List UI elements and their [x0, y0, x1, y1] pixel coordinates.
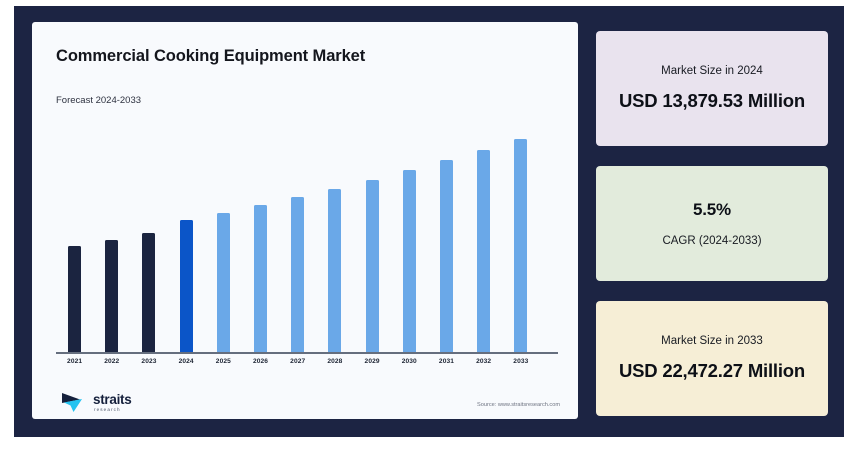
bar-2032 — [477, 150, 490, 352]
bar-slot — [279, 124, 316, 352]
x-axis-label-2028: 2028 — [316, 358, 353, 365]
bar-slot — [354, 124, 391, 352]
chart-subtitle: Forecast 2024-2033 — [56, 95, 141, 106]
infographic-root: Commercial Cooking Equipment Market Fore… — [14, 6, 844, 437]
bar-2027 — [291, 197, 304, 352]
bar-2024 — [180, 220, 193, 352]
bar-slot — [502, 124, 539, 352]
logo-wordmark: straits research — [93, 393, 131, 412]
bar-slot — [428, 124, 465, 352]
bar-slot — [316, 124, 353, 352]
x-axis-label-2024: 2024 — [168, 358, 205, 365]
x-axis-label-2022: 2022 — [93, 358, 130, 365]
x-axis-line — [56, 352, 558, 354]
bar-slot — [56, 124, 93, 352]
x-axis-label-2031: 2031 — [428, 358, 465, 365]
x-axis-label-2032: 2032 — [465, 358, 502, 365]
x-axis-label-2029: 2029 — [354, 358, 391, 365]
bar-slot — [465, 124, 502, 352]
bar-2022 — [105, 240, 118, 352]
bar-2028 — [328, 189, 341, 352]
bar-series — [56, 124, 558, 352]
bar-slot — [130, 124, 167, 352]
logo-word: straits — [93, 393, 131, 407]
logo-subword: research — [94, 408, 131, 413]
stat-value: USD 13,879.53 Million — [619, 90, 805, 112]
bar-slot — [93, 124, 130, 352]
straits-arrow-logo-icon — [60, 390, 90, 416]
x-axis-label-2026: 2026 — [242, 358, 279, 365]
straits-research-logo: straits research — [60, 388, 131, 418]
bar-slot — [242, 124, 279, 352]
stat-card-market-size-2033: Market Size in 2033 USD 22,472.27 Millio… — [596, 301, 828, 416]
bar-2026 — [254, 205, 267, 352]
bar-chart-plot — [56, 122, 558, 354]
x-axis-label-2033: 2033 — [502, 358, 539, 365]
source-note: Source: www.straitsresearch.com — [477, 402, 560, 408]
bar-slot — [391, 124, 428, 352]
stat-label: Market Size in 2033 — [661, 335, 763, 347]
bar-2031 — [440, 160, 453, 352]
x-axis-label-2021: 2021 — [56, 358, 93, 365]
stat-label: CAGR (2024-2033) — [662, 235, 761, 247]
chart-card: Commercial Cooking Equipment Market Fore… — [32, 22, 578, 419]
x-axis-label-2023: 2023 — [130, 358, 167, 365]
stat-card-market-size-2024: Market Size in 2024 USD 13,879.53 Millio… — [596, 31, 828, 146]
x-axis-labels: 2021202220232024202520262027202820292030… — [56, 358, 558, 365]
stat-label: Market Size in 2024 — [661, 65, 763, 77]
bar-2025 — [217, 213, 230, 352]
bar-2033 — [514, 139, 527, 352]
chart-title: Commercial Cooking Equipment Market — [56, 47, 365, 66]
stat-card-cagr: 5.5% CAGR (2024-2033) — [596, 166, 828, 281]
bar-slot — [168, 124, 205, 352]
stat-value: USD 22,472.27 Million — [619, 360, 805, 382]
bar-2029 — [366, 180, 379, 352]
stat-value: 5.5% — [693, 200, 731, 220]
bar-slot — [205, 124, 242, 352]
x-axis-label-2027: 2027 — [279, 358, 316, 365]
x-axis-label-2025: 2025 — [205, 358, 242, 365]
bar-2023 — [142, 233, 155, 352]
bar-2030 — [403, 170, 416, 352]
bar-2021 — [68, 246, 81, 352]
x-axis-label-2030: 2030 — [391, 358, 428, 365]
